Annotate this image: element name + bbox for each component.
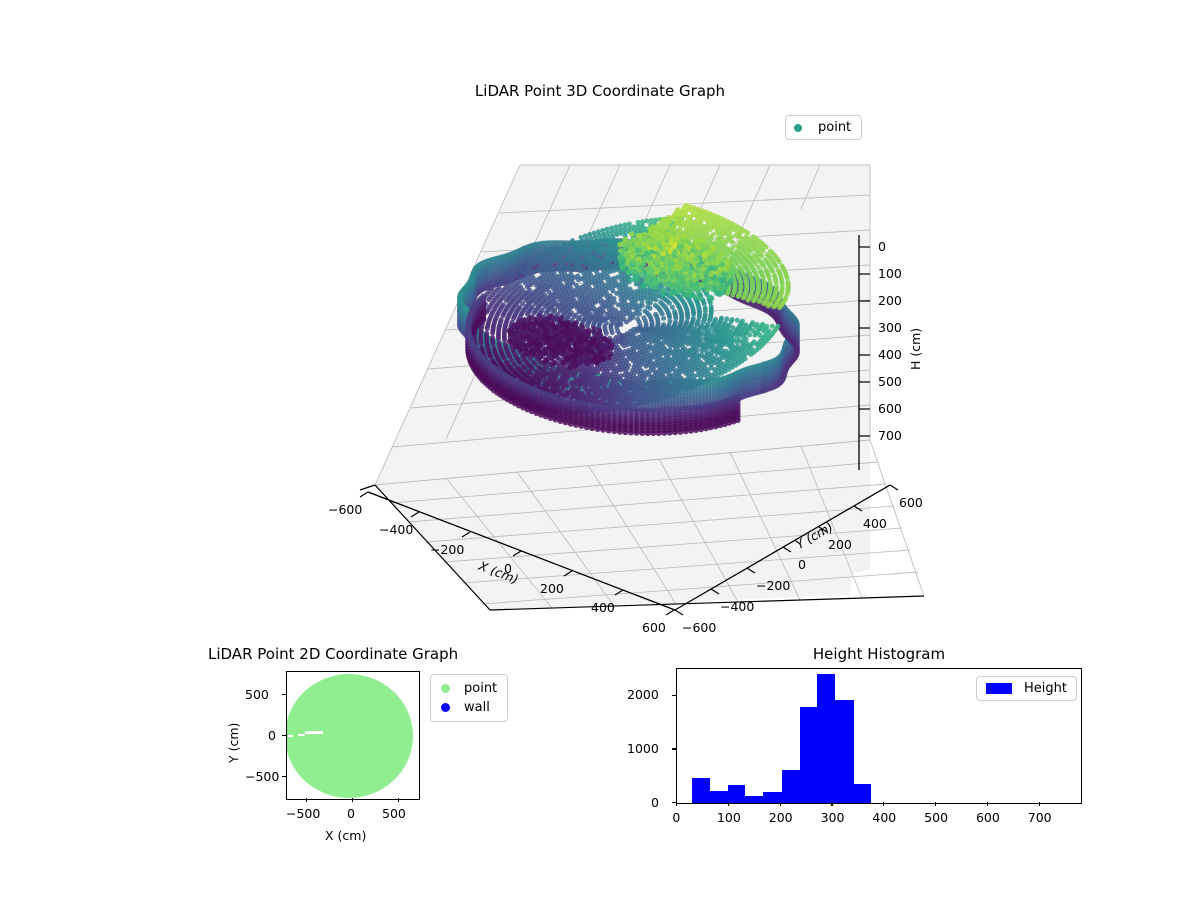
plot2d-ytickmark-0 <box>282 735 286 736</box>
plot2d-xtickmark-neg500 <box>306 798 307 802</box>
plot3d-legend[interactable]: point <box>785 115 862 140</box>
plot3d-ytick-6: 600 <box>899 495 923 510</box>
histogram-bar <box>782 770 800 803</box>
histogram-bar <box>800 707 818 803</box>
plot2d-ytickmark-500 <box>282 694 286 695</box>
histogram-xtick-200: 200 <box>769 810 793 825</box>
plot3d-ztick-6: 600 <box>878 401 902 416</box>
plot3d-ytick-4: 200 <box>828 537 852 552</box>
plot3d-ytick-5: 400 <box>863 516 887 531</box>
plot3d-ytick-0: −600 <box>682 620 716 635</box>
histogram-xtick-100: 100 <box>717 810 741 825</box>
plot2d-ytick-0: 0 <box>268 728 276 743</box>
legend-wall-marker-icon <box>441 703 450 712</box>
plot2d-xlabel: X (cm) <box>325 828 366 843</box>
plot2d-legend-item-wall[interactable]: wall <box>441 698 497 717</box>
histogram-xtick-400: 400 <box>872 810 896 825</box>
plot2d-gap-notch-2 <box>298 734 305 736</box>
plot3d-ytick-2: −200 <box>756 578 790 593</box>
plot3d-xtick-2: −200 <box>430 542 464 557</box>
legend-point-marker-icon <box>794 124 802 132</box>
plot2d-xtick-500: 500 <box>382 806 406 821</box>
histogram-bar <box>710 791 728 803</box>
plot3d-title: LiDAR Point 3D Coordinate Graph <box>0 82 1200 100</box>
plot3d-ztick-0: 0 <box>878 239 886 254</box>
histogram-xtickmark <box>935 802 936 806</box>
plot3d-xtick-4: 200 <box>540 581 564 596</box>
histogram-ytickmark <box>672 695 676 696</box>
histogram-bar <box>745 796 763 803</box>
plot2d-ytick-500: 500 <box>245 687 269 702</box>
plot3d-xtick-0: −600 <box>328 502 362 517</box>
histogram-bar <box>728 785 746 803</box>
histogram-ytickmark <box>672 748 676 749</box>
plot2d-gap-notch <box>305 731 323 734</box>
plot2d-ylabel: Y (cm) <box>226 723 241 763</box>
plot3d-ytick-3: 0 <box>798 557 806 572</box>
histogram-ytick-1000: 1000 <box>627 741 659 756</box>
legend-point-marker-icon <box>441 684 450 693</box>
legend-point-label: point <box>818 120 851 135</box>
plot2d-xtick-0: 0 <box>347 806 355 821</box>
histogram-xtickmark <box>883 802 884 806</box>
plot2d-xtickmark-0 <box>352 798 353 802</box>
plot2d-title: LiDAR Point 2D Coordinate Graph <box>208 645 458 663</box>
plot3d-ztick-7: 700 <box>878 428 902 443</box>
histogram-xtickmark <box>831 802 832 806</box>
plot3d-ztick-2: 200 <box>878 293 902 308</box>
plot2d-legend[interactable]: point wall <box>430 674 508 722</box>
plot3d-canvas <box>330 140 950 640</box>
plot3d-ztick-4: 400 <box>878 347 902 362</box>
plot3d-ytick-1: −400 <box>720 599 754 614</box>
histogram-xtickmark <box>676 802 677 806</box>
plot3d-xtick-5: 400 <box>591 600 615 615</box>
legend-height-swatch-icon <box>986 683 1012 694</box>
histogram-xtick-300: 300 <box>821 810 845 825</box>
plot2d-gap-notch-3 <box>288 735 293 737</box>
plot3d-ztick-1: 100 <box>878 266 902 281</box>
histogram-xtick-700: 700 <box>1028 810 1052 825</box>
figure-canvas: LiDAR Point 3D Coordinate Graph point <box>0 0 1200 900</box>
plot2d-legend-item-point[interactable]: point <box>441 679 497 698</box>
histogram-ytick-0: 0 <box>651 795 659 810</box>
plot2d-point-cloud <box>286 674 413 798</box>
plot2d-xtickmark-500 <box>398 798 399 802</box>
histogram-xtick-500: 500 <box>924 810 948 825</box>
histogram-ytick-2000: 2000 <box>627 687 659 702</box>
legend-height-label: Height <box>1024 681 1067 696</box>
histogram-xtickmark <box>1039 802 1040 806</box>
plot3d-ztick-3: 300 <box>878 320 902 335</box>
histogram-xtick-600: 600 <box>976 810 1000 825</box>
histogram-xtickmark <box>780 802 781 806</box>
histogram-bar <box>835 700 853 803</box>
plot2d-xtick-neg500: −500 <box>286 806 320 821</box>
histogram-bar <box>817 674 835 803</box>
histogram-bar <box>692 778 710 803</box>
histogram-xtickmark <box>987 802 988 806</box>
histogram-xtick-0: 0 <box>672 810 680 825</box>
legend-point-label: point <box>464 681 497 696</box>
histogram-bar <box>854 784 872 803</box>
histogram-ytickmark <box>672 802 676 803</box>
plot3d-ztick-5: 500 <box>878 374 902 389</box>
plot2d-ytickmark-neg500 <box>282 776 286 777</box>
histogram-title: Height Histogram <box>676 645 1082 663</box>
plot3d-xtick-1: −400 <box>379 522 413 537</box>
plot2d-axes[interactable] <box>286 671 420 800</box>
plot2d-ytick-neg500: −500 <box>245 769 279 784</box>
plot3d-zlabel: H (cm) <box>908 328 923 370</box>
plot3d-xtick-6: 600 <box>642 620 666 635</box>
histogram-legend[interactable]: Height <box>976 676 1077 701</box>
legend-wall-label: wall <box>464 700 490 715</box>
histogram-xtickmark <box>728 802 729 806</box>
plot3d-axes[interactable]: −600 −400 −200 0 200 400 600 −600 −400 −… <box>330 140 950 640</box>
